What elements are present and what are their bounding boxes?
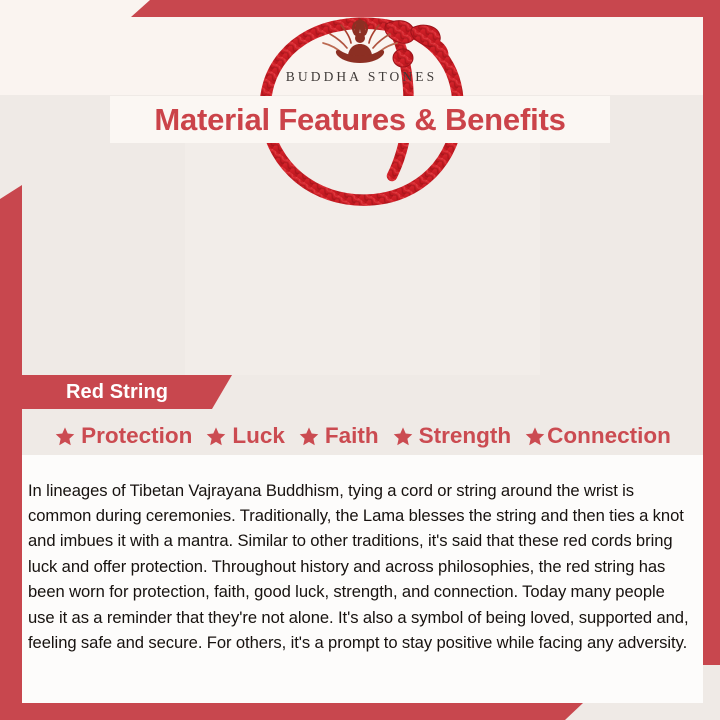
lotus-meditation-figure-icon xyxy=(305,14,415,66)
star-icon xyxy=(524,426,546,447)
benefit-label: Strength xyxy=(419,423,512,449)
material-name-ribbon: Red String xyxy=(22,375,232,409)
benefit-item-connection: Connection xyxy=(524,423,671,449)
description-text: In lineages of Tibetan Vajrayana Buddhis… xyxy=(28,478,689,656)
frame-bar-bottom xyxy=(0,703,720,720)
benefit-label: Luck xyxy=(232,423,285,449)
frame-bar-right xyxy=(703,0,720,665)
benefit-item-faith: Faith xyxy=(298,423,379,449)
star-icon xyxy=(54,426,76,447)
frame-bar-left xyxy=(0,185,22,720)
description-panel: In lineages of Tibetan Vajrayana Buddhis… xyxy=(22,455,703,703)
benefit-label: Protection xyxy=(81,423,192,449)
benefit-label: Connection xyxy=(547,423,671,449)
star-icon xyxy=(298,426,320,447)
infographic-page: BUDDHA STONES Material xyxy=(0,0,720,720)
benefit-item-protection: Protection xyxy=(54,423,192,449)
section-title-band: Material Features & Benefits xyxy=(110,96,610,143)
star-icon xyxy=(205,426,227,447)
benefit-label: Faith xyxy=(325,423,379,449)
brand-name: BUDDHA STONES xyxy=(0,69,720,85)
benefit-item-strength: Strength xyxy=(392,423,512,449)
benefits-list: Protection Luck Faith Strength Connectio… xyxy=(22,417,703,455)
star-icon xyxy=(392,426,414,447)
page-title: Material Features & Benefits xyxy=(154,102,565,138)
brand-logo: BUDDHA STONES xyxy=(0,14,720,85)
material-name-label: Red String xyxy=(22,381,168,404)
benefit-item-luck: Luck xyxy=(205,423,285,449)
